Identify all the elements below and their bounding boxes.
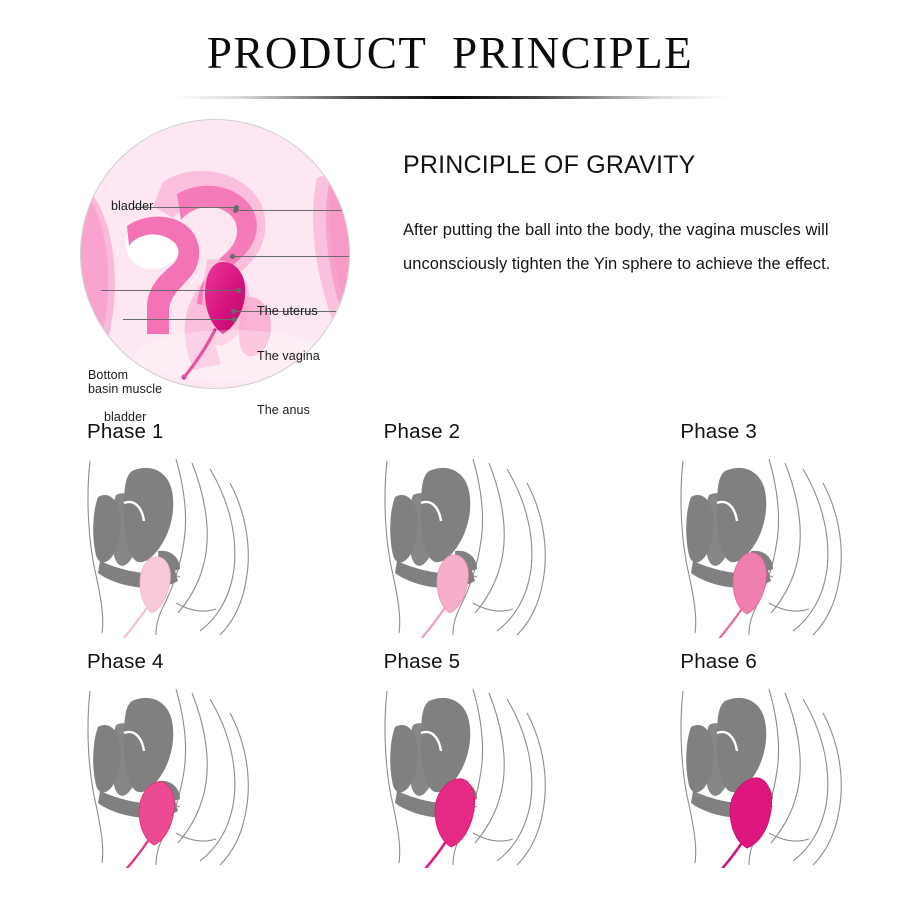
page-title: PRODUCT PRINCIPLE bbox=[0, 0, 900, 80]
gravity-text-block: PRINCIPLE OF GRAVITY After putting the b… bbox=[403, 151, 863, 282]
label-bladder-upper: bladder bbox=[111, 199, 153, 213]
label-bottom-basin-muscle-line1: Bottom bbox=[88, 368, 162, 382]
ball-2 bbox=[418, 555, 468, 638]
gravity-body-text: After putting the ball into the body, th… bbox=[403, 180, 843, 282]
pelvis-figure-6 bbox=[673, 683, 863, 868]
phase-cell-6: Phase 6 bbox=[603, 645, 900, 875]
phase-figure-2 bbox=[377, 453, 567, 638]
leader-dot-bladder-lower bbox=[232, 317, 237, 322]
ball-4 bbox=[121, 782, 174, 868]
leader-line-bottom-basin-muscle bbox=[101, 290, 239, 291]
pelvis-figure-5 bbox=[377, 683, 567, 868]
ball-5 bbox=[418, 779, 475, 868]
pelvis-figure-4 bbox=[80, 683, 270, 868]
phase-figure-3 bbox=[673, 453, 863, 638]
title-divider bbox=[170, 96, 730, 99]
label-the-uterus: The uterus bbox=[257, 304, 318, 318]
phase-label-5: Phase 5 bbox=[384, 650, 461, 674]
phase-cell-2: Phase 2 bbox=[307, 415, 604, 645]
label-the-vagina: The vagina bbox=[257, 349, 320, 363]
leader-line-the-uterus bbox=[236, 210, 350, 211]
phase-label-2: Phase 2 bbox=[384, 420, 461, 444]
phase-label-4: Phase 4 bbox=[87, 650, 164, 674]
leader-dot-the-vagina bbox=[230, 254, 235, 259]
phase-cell-3: Phase 3 bbox=[603, 415, 900, 645]
label-bottom-basin-muscle: Bottom basin muscle bbox=[88, 368, 162, 396]
top-section: bladder Bottom basin muscle bladder The … bbox=[0, 109, 900, 399]
label-bottom-basin-muscle-line2: basin muscle bbox=[88, 382, 162, 396]
gravity-heading: PRINCIPLE OF GRAVITY bbox=[403, 151, 863, 180]
anatomy-illustration bbox=[81, 120, 349, 388]
pelvis-figure-3 bbox=[673, 453, 863, 638]
phase-cell-4: Phase 4 bbox=[10, 645, 307, 875]
ball-3 bbox=[715, 553, 766, 638]
phase-label-1: Phase 1 bbox=[87, 420, 164, 444]
phase-cell-5: Phase 5 bbox=[307, 645, 604, 875]
phase-grid: Phase 1 bbox=[0, 415, 900, 875]
phase-label-6: Phase 6 bbox=[680, 650, 757, 674]
leader-dot-the-anus bbox=[231, 309, 236, 314]
pelvis-figure-1 bbox=[80, 453, 270, 638]
leader-dot-bottom-basin-muscle bbox=[236, 288, 241, 293]
phase-cell-1: Phase 1 bbox=[10, 415, 307, 645]
phase-figure-1 bbox=[80, 453, 270, 638]
ball-1 bbox=[120, 557, 170, 638]
leader-line-the-vagina bbox=[233, 256, 350, 257]
pelvis-figure-2 bbox=[377, 453, 567, 638]
phase-figure-5 bbox=[377, 683, 567, 868]
ball-6 bbox=[714, 778, 772, 868]
phase-figure-6 bbox=[673, 683, 863, 868]
phase-figure-4 bbox=[80, 683, 270, 868]
leader-dot-the-uterus bbox=[233, 208, 238, 213]
leader-line-bladder-lower bbox=[123, 319, 235, 320]
phase-label-3: Phase 3 bbox=[680, 420, 757, 444]
